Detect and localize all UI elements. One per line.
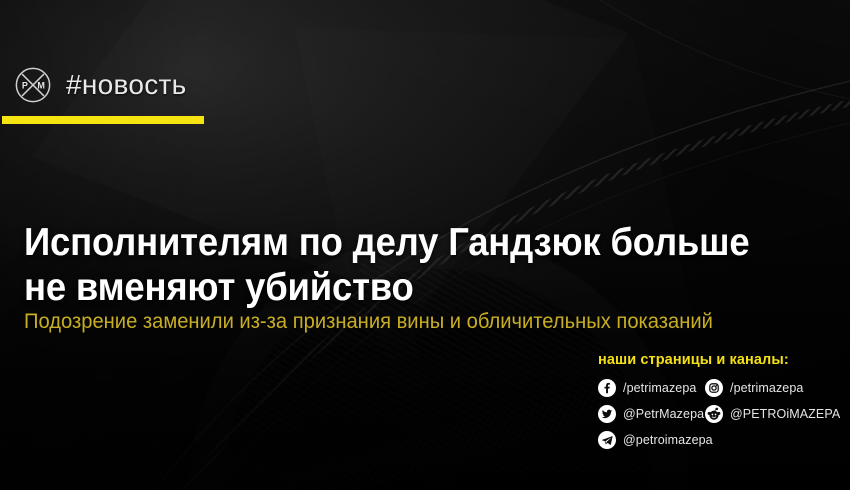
telegram-icon [598, 431, 616, 449]
page-subtitle: Подозрение заменили из-за признания вины… [24, 308, 782, 335]
social-handle-telegram: @petroimazepa [623, 433, 713, 447]
social-handle-reddit: @PETROiMAZEPA [730, 407, 840, 421]
accent-bar [2, 116, 204, 124]
news-card: P M #новость Исполнителям по делу Гандзю… [0, 0, 850, 490]
instagram-icon [705, 379, 723, 397]
social-link-instagram[interactable]: /petrimazepa [705, 379, 840, 397]
twitter-icon [598, 405, 616, 423]
social-link-twitter[interactable]: @PetrMazepa [598, 405, 705, 423]
svg-text:M: M [37, 80, 45, 90]
kicker-row: P M #новость [14, 66, 187, 104]
social-handle-instagram: /petrimazepa [730, 381, 803, 395]
kicker-label: #новость [66, 69, 187, 101]
social-link-reddit[interactable]: @PETROiMAZEPA [705, 405, 840, 423]
social-links-grid: /petrimazepa /petrimazepa @PetrMazepa [598, 379, 838, 449]
social-handle-twitter: @PetrMazepa [623, 407, 704, 421]
pm-circle-logo-icon: P M [14, 66, 52, 104]
social-link-facebook[interactable]: /petrimazepa [598, 379, 705, 397]
page-title: Исполнителям по делу Гандзюк больше не в… [24, 220, 763, 310]
reddit-icon [705, 405, 723, 423]
social-link-telegram[interactable]: @petroimazepa [598, 431, 705, 449]
facebook-icon [598, 379, 616, 397]
social-handle-facebook: /petrimazepa [623, 381, 696, 395]
social-block: наши страницы и каналы: /petrimazepa /p [598, 352, 838, 449]
svg-text:P: P [22, 80, 28, 90]
social-block-title: наши страницы и каналы: [598, 352, 838, 368]
